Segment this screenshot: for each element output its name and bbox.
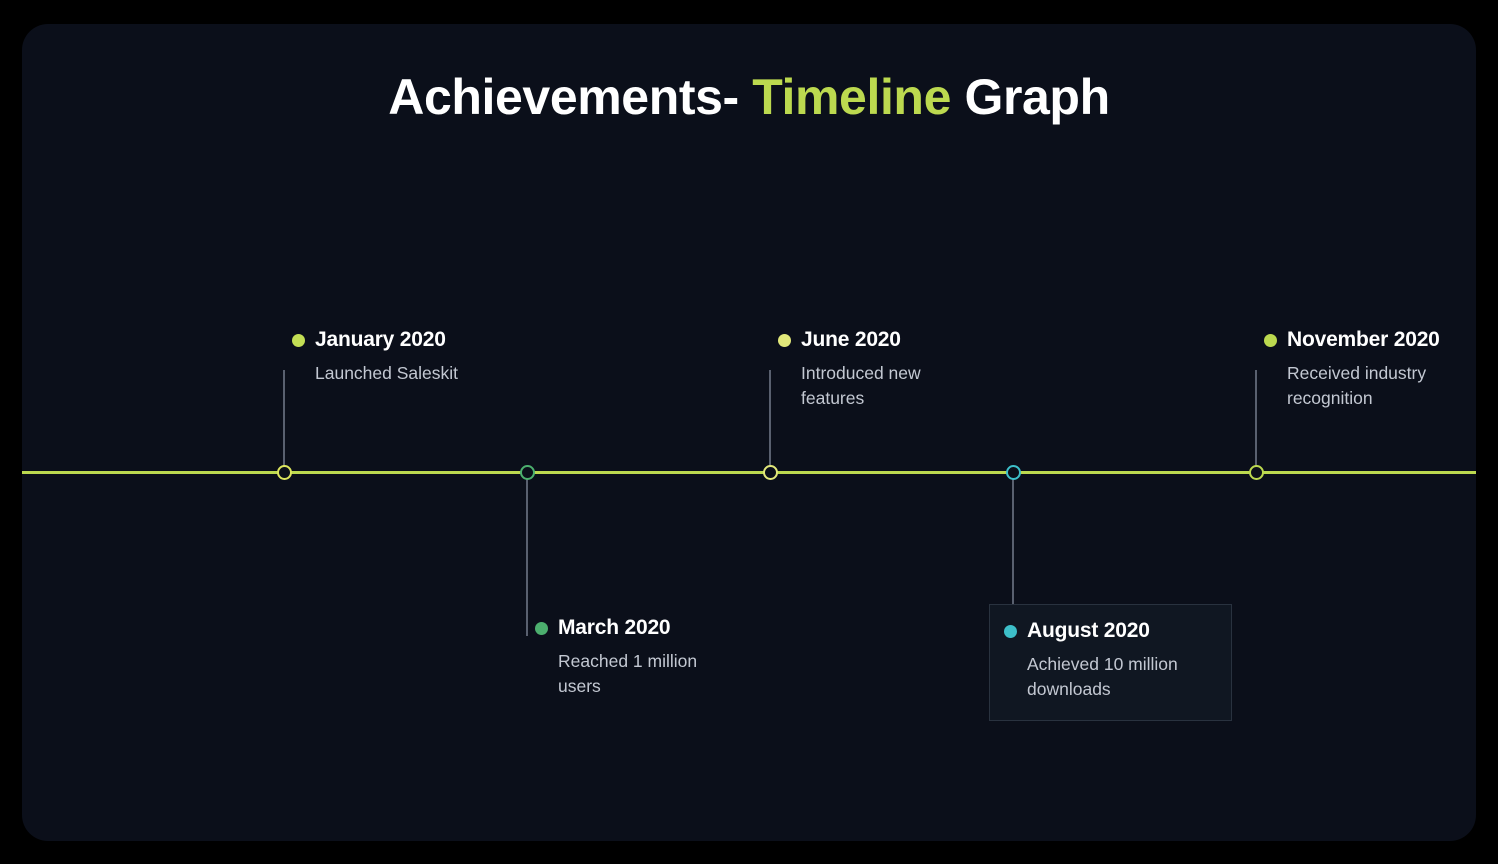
timeline-event-header: August 2020 [1004,619,1215,643]
timeline-axis-marker[interactable] [277,465,292,480]
timeline-event-header: January 2020 [292,328,535,352]
timeline-axis-marker[interactable] [763,465,778,480]
timeline-connector [769,370,771,472]
timeline-event-card[interactable]: November 2020Received industry recogniti… [1264,328,1476,411]
timeline-chart: January 2020Launched SaleskitMarch 2020R… [22,24,1476,841]
timeline-event-card[interactable]: January 2020Launched Saleskit [292,328,535,386]
timeline-event-header: June 2020 [778,328,1021,352]
timeline-axis-marker[interactable] [1006,465,1021,480]
timeline-event-date: January 2020 [315,328,446,352]
timeline-connector [283,370,285,472]
timeline-event-dot-icon [778,334,791,347]
timeline-event-date: November 2020 [1287,328,1440,352]
timeline-event-date: August 2020 [1027,619,1150,643]
timeline-event-card[interactable]: June 2020Introduced new features [778,328,1021,411]
timeline-event-description: Achieved 10 million downloads [1027,652,1207,702]
device-bezel: Achievements- Timeline Graph January 202… [0,0,1498,864]
timeline-event-dot-icon [1264,334,1277,347]
timeline-event-card[interactable]: March 2020Reached 1 million users [535,616,778,699]
timeline-event-dot-icon [535,622,548,635]
timeline-event-date: March 2020 [558,616,670,640]
timeline-event-header: November 2020 [1264,328,1476,352]
timeline-event-description: Introduced new features [801,361,981,411]
timeline-connector [1012,472,1014,604]
timeline-event-dot-icon [1004,625,1017,638]
timeline-event-description: Launched Saleskit [315,361,495,386]
timeline-axis-marker[interactable] [520,465,535,480]
timeline-event-dot-icon [292,334,305,347]
timeline-axis-marker[interactable] [1249,465,1264,480]
timeline-event-date: June 2020 [801,328,901,352]
timeline-connector [1255,370,1257,472]
timeline-event-card-selected[interactable]: August 2020Achieved 10 million downloads [989,604,1232,721]
timeline-event-header: March 2020 [535,616,778,640]
timeline-event-description: Reached 1 million users [558,649,738,699]
timeline-connector [526,472,528,636]
slide-canvas: Achievements- Timeline Graph January 202… [22,24,1476,841]
timeline-event-description: Received industry recognition [1287,361,1467,411]
